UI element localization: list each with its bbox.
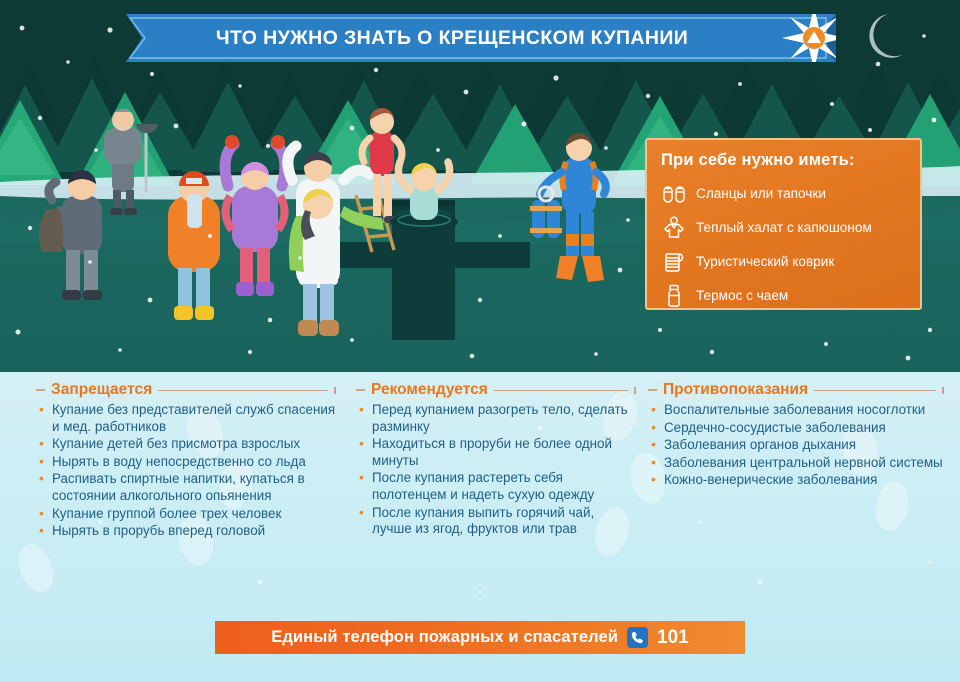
list-item: Купание группой более трех человек <box>36 506 336 523</box>
page-title: ЧТО НУЖНО ЗНАТЬ О КРЕЩЕНСКОМ КУПАНИИ <box>126 14 836 62</box>
heading-cap <box>334 387 336 394</box>
camping-mat-icon <box>661 249 687 275</box>
heading-dash <box>356 389 365 391</box>
heading-rule <box>814 390 936 391</box>
heading-rule <box>158 390 328 391</box>
rules-panel: Запрещается Купание без представителей с… <box>0 372 960 611</box>
infobox-item-bathrobe: Теплый халат с капюшоном <box>661 213 908 242</box>
emergency-phone-bar: Единый телефон пожарных и спасателей 101 <box>215 621 745 654</box>
bathrobe-icon <box>661 215 687 241</box>
infobox-item-label: Сланцы или тапочки <box>696 186 826 201</box>
list-item: Заболевания центральной нервной системы <box>648 455 944 472</box>
thermos-icon <box>661 283 687 309</box>
list-item: После купания растереть себя полотенцем … <box>356 470 636 503</box>
column-heading-text: Рекомендуется <box>371 381 488 399</box>
list-item: Нырять в воду непосредственно со льда <box>36 454 336 471</box>
infographic-poster: ЧТО НУЖНО ЗНАТЬ О КРЕЩЕНСКОМ КУПАНИИ При… <box>0 0 960 682</box>
column-heading: Рекомендуется <box>356 381 636 399</box>
winter-scene: ЧТО НУЖНО ЗНАТЬ О КРЕЩЕНСКОМ КУПАНИИ При… <box>0 0 960 372</box>
footer-text: Единый телефон пожарных и спасателей <box>271 628 618 647</box>
column-recommended: Рекомендуется Перед купанием разогреть т… <box>356 381 636 539</box>
list-item: Распивать спиртные напитки, купаться в с… <box>36 471 336 504</box>
infobox-item-label: Термос с чаем <box>696 288 788 303</box>
infobox-item-label: Теплый халат с капюшоном <box>696 220 872 235</box>
list-item: Нырять в прорубь вперед головой <box>36 523 336 540</box>
list-item: После купания выпить горячий чай, лучше … <box>356 505 636 538</box>
column-heading: Запрещается <box>36 381 336 399</box>
infobox-item-label: Туристический коврик <box>696 254 834 269</box>
phone-handset-icon <box>627 627 648 648</box>
slippers-icon <box>661 181 687 207</box>
rules-list: Купание без представителей служб спасени… <box>36 402 336 540</box>
column-heading: Противопоказания <box>648 381 944 399</box>
list-item: Купание без представителей служб спасени… <box>36 402 336 435</box>
list-item: Сердечно-сосудистые заболевания <box>648 420 944 437</box>
heading-cap <box>634 387 636 394</box>
rules-columns: Запрещается Купание без представителей с… <box>0 372 960 611</box>
infobox-item-mat: Туристический коврик <box>661 247 908 276</box>
column-contraindications: Противопоказания Воспалительные заболева… <box>648 381 944 490</box>
list-item: Воспалительные заболевания носоглотки <box>648 402 944 419</box>
emergency-number: 101 <box>657 627 689 649</box>
column-heading-text: Запрещается <box>51 381 152 399</box>
equipment-info-box: При себе нужно иметь: Сланцы или тапочки <box>645 138 922 310</box>
infobox-item-slippers: Сланцы или тапочки <box>661 179 908 208</box>
list-item: Находиться в проруби не более одной мину… <box>356 436 636 469</box>
heading-dash <box>648 389 657 391</box>
heading-dash <box>36 389 45 391</box>
rules-list: Воспалительные заболевания носоглотки Се… <box>648 402 944 489</box>
list-item: Перед купанием разогреть тело, сделать р… <box>356 402 636 435</box>
list-item: Купание детей без присмотра взрослых <box>36 436 336 453</box>
list-item: Кожно-венерические заболевания <box>648 472 944 489</box>
list-item: Заболевания органов дыхания <box>648 437 944 454</box>
infobox-item-thermos: Термос с чаем <box>661 281 908 310</box>
heading-rule <box>494 390 628 391</box>
column-heading-text: Противопоказания <box>663 381 808 399</box>
title-ribbon: ЧТО НУЖНО ЗНАТЬ О КРЕЩЕНСКОМ КУПАНИИ <box>126 14 836 62</box>
infobox-title: При себе нужно иметь: <box>661 151 908 170</box>
column-prohibited: Запрещается Купание без представителей с… <box>36 381 336 541</box>
rules-list: Перед купанием разогреть тело, сделать р… <box>356 402 636 538</box>
heading-cap <box>942 387 944 394</box>
